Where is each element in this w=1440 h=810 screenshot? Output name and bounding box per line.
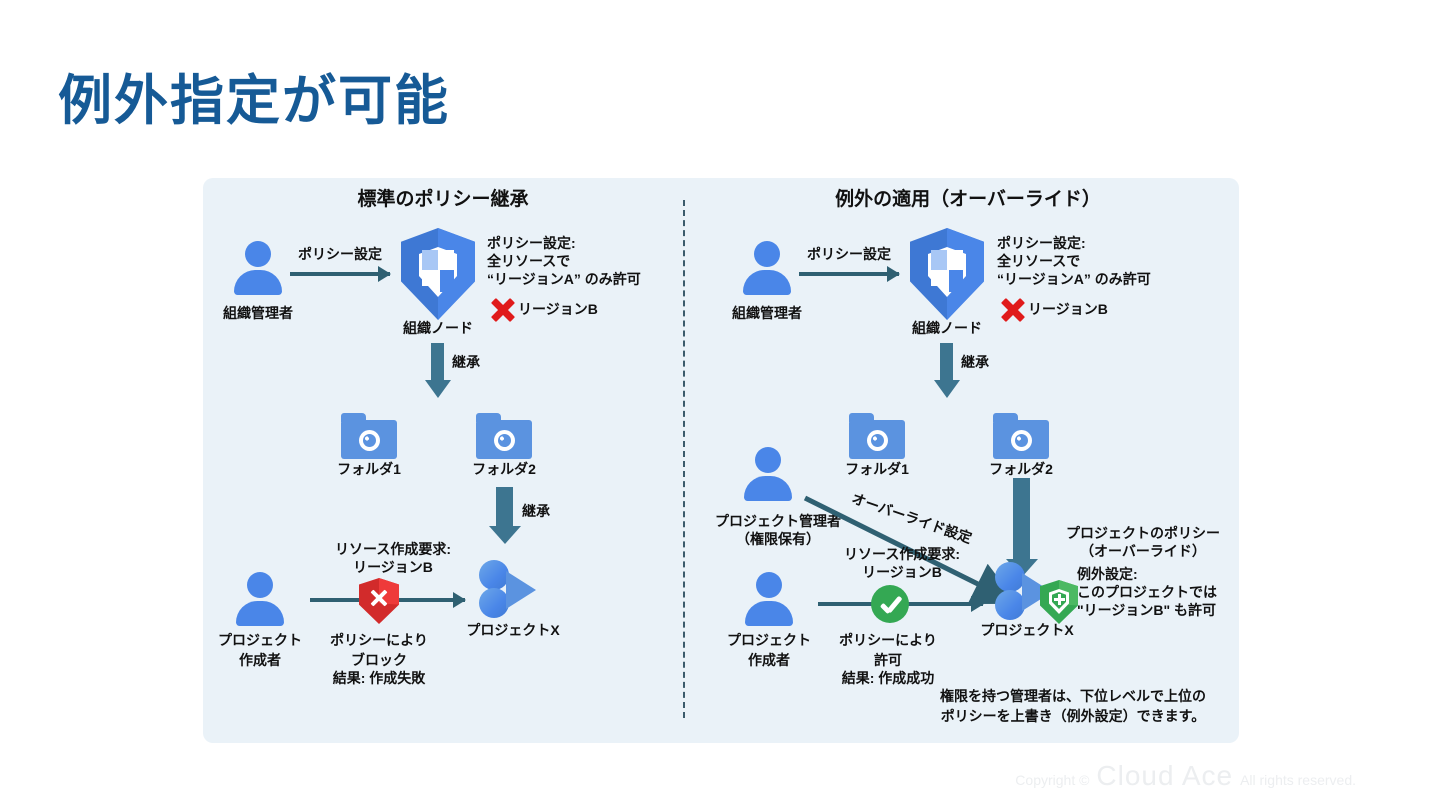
- folder2-label-left: フォルダ2: [444, 461, 564, 478]
- folder1-label-left: フォルダ1: [309, 461, 429, 478]
- policy-note-line1-right: ポリシー設定:: [997, 235, 1086, 252]
- slide-root: 例外指定が可能 標準のポリシー継承 組織管理者 ポリシー設定 組織ノード ポリシ…: [0, 0, 1440, 810]
- folder1-icon-left: [341, 413, 397, 459]
- set-policy-arrow-left: [290, 272, 390, 276]
- inherit-label-2-left: 継承: [522, 503, 550, 520]
- request-line1-left: リソース作成要求:: [308, 541, 478, 558]
- inherit-label-1-right: 継承: [961, 354, 989, 371]
- project-creator-person-icon-right: [742, 572, 796, 628]
- set-policy-arrow-right: [799, 272, 899, 276]
- request-line2-right: リージョンB: [817, 564, 987, 581]
- policy-note-line3-right: “リージョンA” のみ許可: [997, 271, 1151, 288]
- org-node-label-right: 組織ノード: [887, 320, 1007, 337]
- org-admin-person-icon-right: [740, 241, 794, 297]
- brand-name: Cloud Ace: [1096, 760, 1233, 792]
- org-admin-label-left: 組織管理者: [198, 305, 318, 322]
- inherit-label-1-left: 継承: [452, 354, 480, 371]
- result-label-right: 結果: 作成成功: [812, 670, 964, 687]
- creator-label-line2-left: 作成者: [200, 652, 320, 669]
- org-admin-person-icon-left: [231, 241, 285, 297]
- check-circle-icon: [871, 585, 909, 623]
- request-line1-right: リソース作成要求:: [817, 546, 987, 563]
- page-title: 例外指定が可能: [58, 72, 450, 131]
- policy-note-line1-left: ポリシー設定:: [487, 235, 576, 252]
- result-label-left: 結果: 作成失敗: [303, 670, 455, 687]
- denied-region-label-right: リージョンB: [1028, 301, 1108, 318]
- folder2-label-right: フォルダ2: [961, 461, 1081, 478]
- policy-note-line3-left: “リージョンA” のみ許可: [487, 271, 641, 288]
- override-shield-icon: [1040, 580, 1078, 624]
- project-x-icon-left: [479, 560, 543, 618]
- policy-note-line2-left: 全リソースで: [487, 253, 570, 270]
- copyright-text: Copyright ©: [1015, 772, 1089, 788]
- right-panel-header: 例外の適用（オーバーライド）: [768, 188, 1168, 211]
- inherit-arrow-2-left: [496, 487, 513, 527]
- shield-icon-org-right: [910, 228, 984, 320]
- project-x-label-left: プロジェクトX: [448, 622, 578, 639]
- inherit-arrow-1-right: [940, 343, 953, 381]
- rights-text: All rights reserved.: [1240, 772, 1356, 788]
- org-admin-label-right: 組織管理者: [707, 305, 827, 322]
- project-x-label-right: プロジェクトX: [962, 622, 1092, 639]
- folder2-icon-left: [476, 413, 532, 459]
- exception-line3: "リージョンB" も許可: [1077, 602, 1216, 619]
- panel-divider: [683, 200, 685, 718]
- project-creator-person-icon-left: [233, 572, 287, 628]
- creator-label-line2-right: 作成者: [709, 652, 829, 669]
- caption-line2: ポリシーを上書き（例外設定）できます。: [903, 708, 1243, 725]
- set-policy-arrow-label-left: ポリシー設定: [285, 246, 395, 263]
- gate-line1-left: ポリシーにより: [303, 632, 455, 649]
- gate-line2-right: 許可: [812, 652, 964, 669]
- folder1-icon-right: [849, 413, 905, 459]
- inherit-arrow-1-left: [431, 343, 444, 381]
- footer-copyright: Copyright © Cloud Ace All rights reserve…: [1015, 760, 1356, 792]
- request-line2-left: リージョンB: [308, 559, 478, 576]
- shield-icon-org-left: [401, 228, 475, 320]
- left-panel-header: 標準のポリシー継承: [253, 188, 633, 211]
- org-node-label-left: 組織ノード: [378, 320, 498, 337]
- project-policy-line1: プロジェクトのポリシー: [1043, 525, 1243, 542]
- x-mark-icon-left: [490, 297, 516, 323]
- project-policy-line2: （オーバーライド）: [1043, 543, 1243, 560]
- folder1-label-right: フォルダ1: [817, 461, 937, 478]
- folder2-icon-right: [993, 413, 1049, 459]
- gate-line2-left: ブロック: [303, 652, 455, 669]
- blocked-shield-icon-left: [359, 578, 399, 624]
- creator-label-line1-right: プロジェクト: [709, 632, 829, 649]
- exception-line1: 例外設定:: [1077, 566, 1138, 583]
- creator-label-line1-left: プロジェクト: [200, 632, 320, 649]
- policy-note-line2-right: 全リソースで: [997, 253, 1080, 270]
- caption-line1: 権限を持つ管理者は、下位レベルで上位の: [903, 688, 1243, 705]
- set-policy-arrow-label-right: ポリシー設定: [794, 246, 904, 263]
- gate-line1-right: ポリシーにより: [812, 632, 964, 649]
- x-mark-icon-right: [1000, 297, 1026, 323]
- exception-line2: このプロジェクトでは: [1077, 584, 1217, 601]
- project-admin-person-icon: [741, 447, 795, 503]
- denied-region-label-left: リージョンB: [518, 301, 598, 318]
